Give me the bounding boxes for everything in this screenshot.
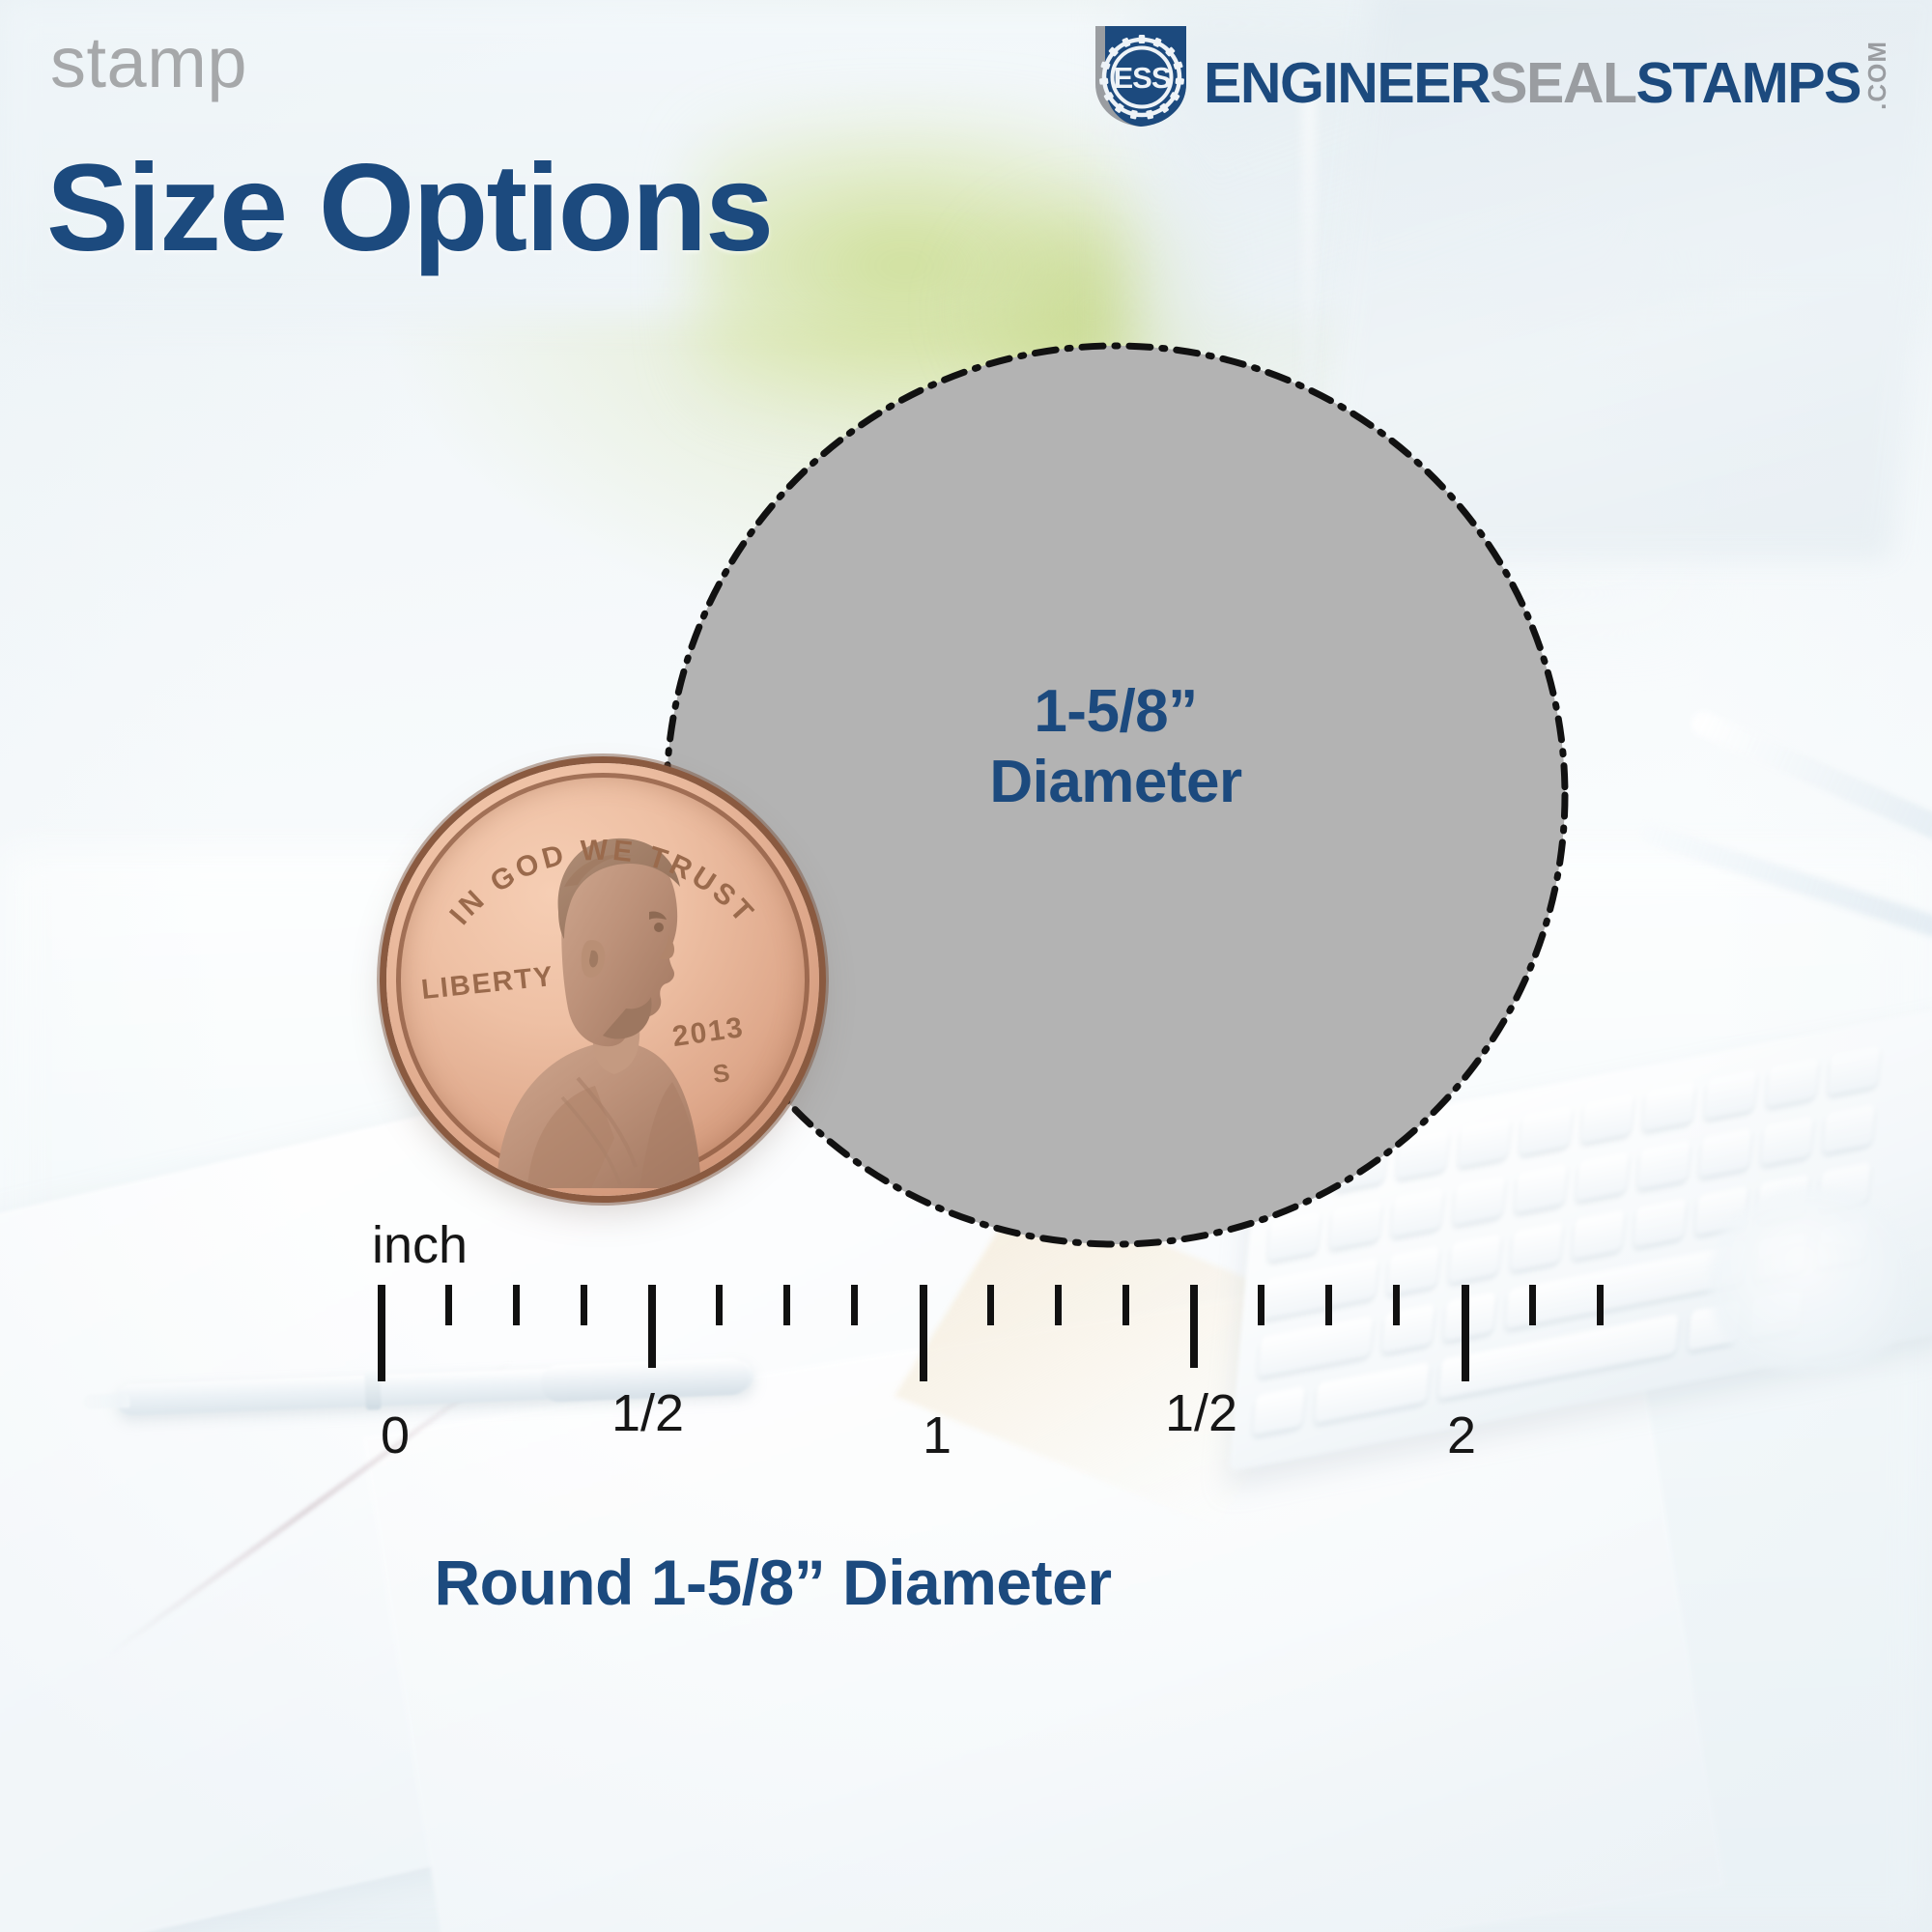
logo-word-seal: SEAL bbox=[1490, 55, 1635, 112]
ess-shield-gear-icon: ESS bbox=[1090, 24, 1192, 128]
page-title: Size Options bbox=[46, 147, 772, 270]
brand-word: stamp bbox=[50, 27, 247, 99]
bottom-caption: Round 1-5/8” Diameter bbox=[0, 1546, 1546, 1619]
logo-word-engineer: ENGINEER bbox=[1204, 55, 1490, 112]
penny-motto-text: IN GOD WE TRUST bbox=[443, 835, 761, 931]
svg-text:IN GOD WE TRUST: IN GOD WE TRUST bbox=[443, 835, 761, 931]
size-label-line1: 1-5/8” bbox=[1034, 678, 1197, 745]
logo-word-com: .COM bbox=[1864, 41, 1889, 110]
size-options-graphic: stamp Size Options bbox=[0, 0, 1932, 1932]
company-logo[interactable]: ESS ENGINEERSEALSTAMPS.COM bbox=[1090, 24, 1889, 128]
logo-word-stamps: STAMPS bbox=[1636, 55, 1861, 112]
penny-coin: IN GOD WE TRUST LIBERTY 2013 S bbox=[386, 763, 819, 1196]
background-mouse bbox=[1710, 1188, 1913, 1372]
svg-text:ESS: ESS bbox=[1113, 61, 1170, 95]
logo-wordmark: ENGINEERSEALSTAMPS.COM bbox=[1204, 41, 1889, 112]
